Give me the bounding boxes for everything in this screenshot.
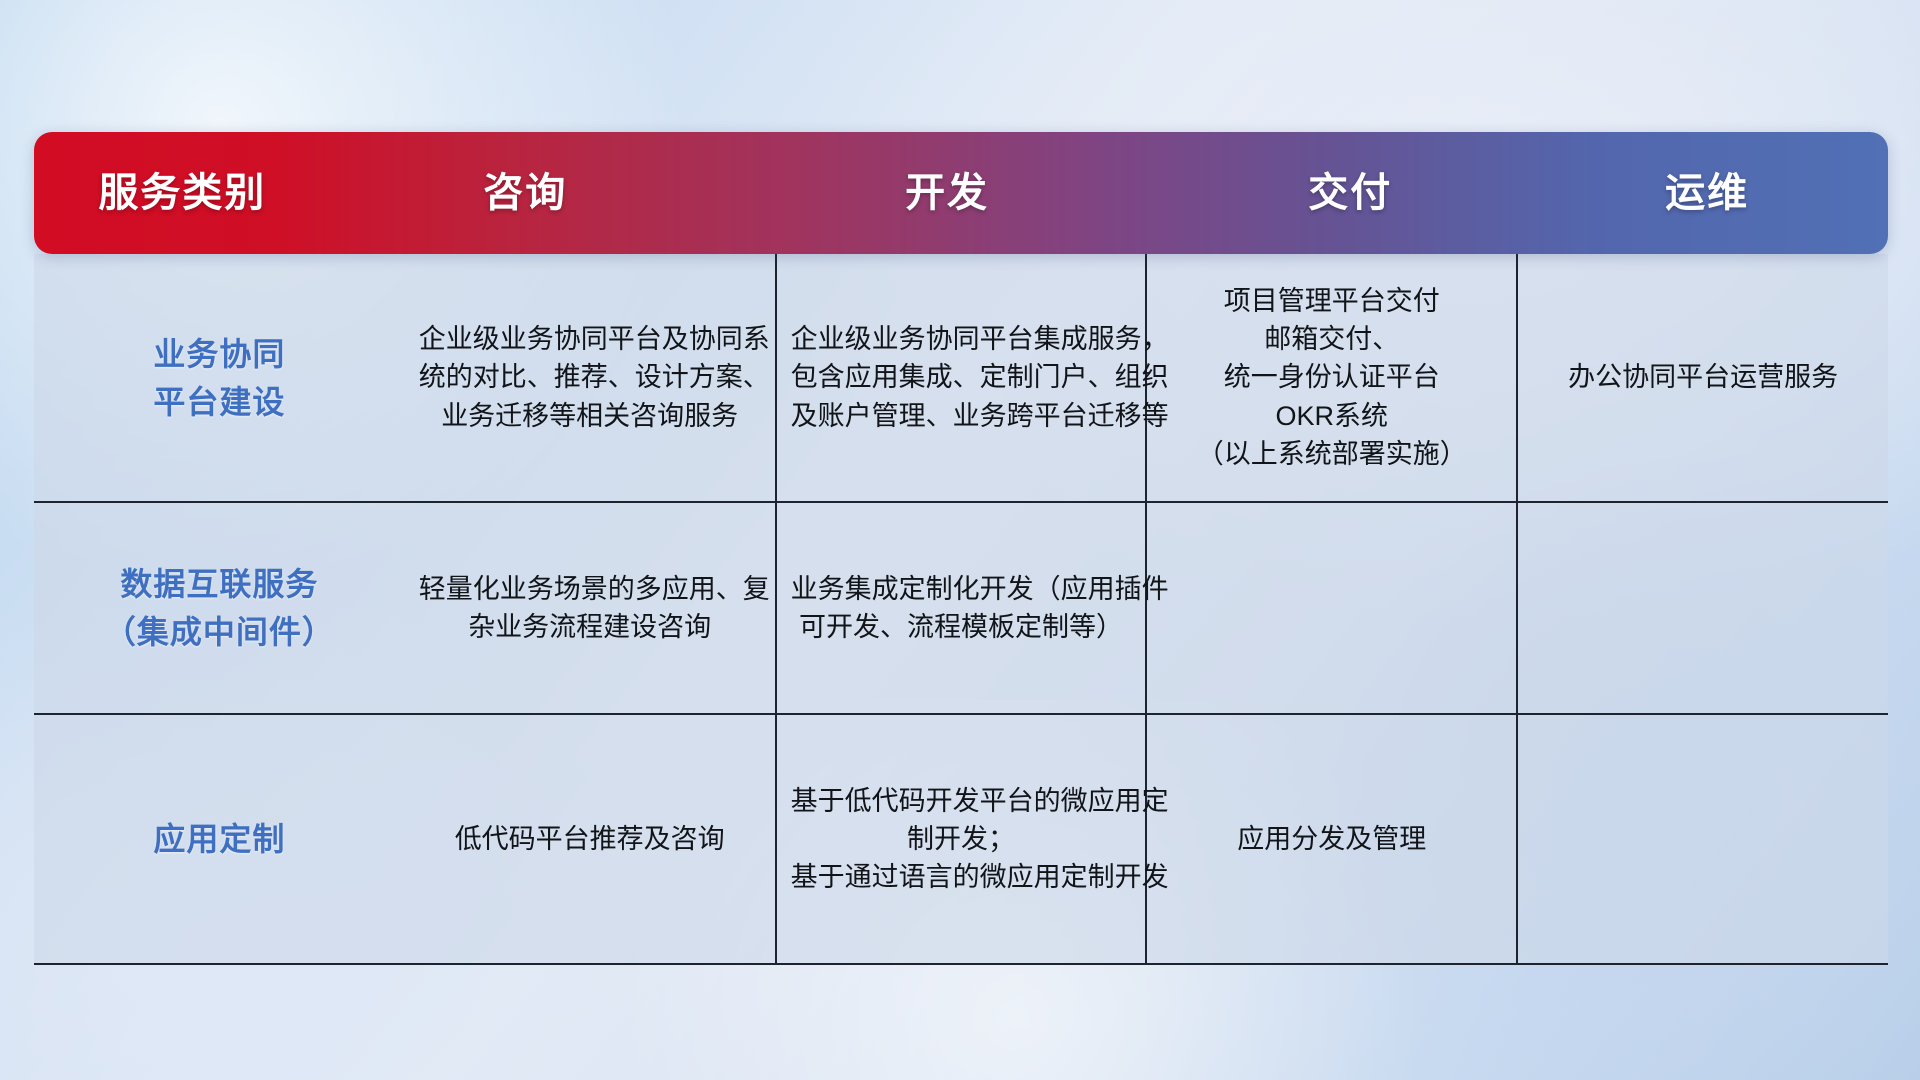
column-header-service-category: 服务类别 [34, 173, 331, 213]
column-header-operations: 运维 [1526, 173, 1888, 213]
cell-line: 轻量化业务场景的多应用、复 [419, 570, 761, 608]
cell-service-category: 业务协同平台建设 [34, 254, 405, 502]
table-header-row: 服务类别 咨询 开发 交付 运维 [34, 132, 1888, 254]
cell-development: 基于低代码开发平台的微应用定制开发；基于通过语言的微应用定制开发 [776, 714, 1147, 964]
service-matrix-table: 服务类别 咨询 开发 交付 运维 业务协同平台建设企业级业务协同平台及协同系统的… [34, 132, 1888, 965]
cell-line: 基于低代码开发平台的微应用定 [791, 782, 1132, 820]
cell-line: 业务集成定制化开发（应用插件 [791, 570, 1132, 608]
cell-delivery [1146, 502, 1517, 714]
table-header: 服务类别 咨询 开发 交付 运维 [34, 132, 1888, 254]
cell-line: 业务协同 [48, 330, 391, 378]
cell-operations [1517, 714, 1888, 964]
cell-development: 业务集成定制化开发（应用插件可开发、流程模板定制等） [776, 502, 1147, 714]
cell-line: 统的对比、推荐、设计方案、 [419, 358, 761, 396]
cell-line: 办公协同平台运营服务 [1532, 358, 1874, 396]
gradient-header-bar: 服务类别 咨询 开发 交付 运维 [34, 132, 1888, 254]
cell-line: 制开发； [791, 820, 1132, 858]
column-header-development: 开发 [720, 173, 1174, 213]
cell-development: 企业级业务协同平台集成服务，包含应用集成、定制门户、组织及账户管理、业务跨平台迁… [776, 254, 1147, 502]
cell-line: 数据互联服务 [48, 560, 391, 608]
cell-service-category: 数据互联服务（集成中间件） [34, 502, 405, 714]
cell-line: 企业级业务协同平台及协同系 [419, 320, 761, 358]
cell-line: （集成中间件） [48, 608, 391, 656]
cell-line: 业务迁移等相关咨询服务 [419, 397, 761, 435]
cell-consulting: 企业级业务协同平台及协同系统的对比、推荐、设计方案、业务迁移等相关咨询服务 [405, 254, 776, 502]
cell-line: 统一身份认证平台 [1161, 358, 1502, 396]
cell-service-category: 应用定制 [34, 714, 405, 964]
table-header-bar-cell: 服务类别 咨询 开发 交付 运维 [34, 132, 1888, 254]
cell-line: 杂业务流程建设咨询 [419, 608, 761, 646]
cell-line: OKR系统 [1161, 397, 1502, 435]
cell-delivery: 项目管理平台交付邮箱交付、统一身份认证平台OKR系统（以上系统部署实施） [1146, 254, 1517, 502]
cell-line: 应用定制 [48, 815, 391, 863]
cell-line: （以上系统部署实施） [1161, 435, 1502, 473]
cell-line: 项目管理平台交付 [1161, 282, 1502, 320]
cell-line: 及账户管理、业务跨平台迁移等 [791, 397, 1132, 435]
cell-line: 应用分发及管理 [1161, 820, 1502, 858]
cell-line: 可开发、流程模板定制等） [791, 608, 1132, 646]
service-matrix-table-container: 服务类别 咨询 开发 交付 运维 业务协同平台建设企业级业务协同平台及协同系统的… [34, 132, 1888, 965]
table-row: 应用定制低代码平台推荐及咨询基于低代码开发平台的微应用定制开发；基于通过语言的微… [34, 714, 1888, 964]
table-row: 数据互联服务（集成中间件）轻量化业务场景的多应用、复杂业务流程建设咨询业务集成定… [34, 502, 1888, 714]
cell-line: 包含应用集成、定制门户、组织 [791, 358, 1132, 396]
cell-line: 基于通过语言的微应用定制开发 [791, 858, 1132, 896]
column-header-delivery: 交付 [1174, 173, 1526, 213]
table-row: 业务协同平台建设企业级业务协同平台及协同系统的对比、推荐、设计方案、业务迁移等相… [34, 254, 1888, 502]
cell-line: 邮箱交付、 [1161, 320, 1502, 358]
cell-consulting: 低代码平台推荐及咨询 [405, 714, 776, 964]
cell-line: 低代码平台推荐及咨询 [419, 820, 761, 858]
cell-operations [1517, 502, 1888, 714]
header-labels: 服务类别 咨询 开发 交付 运维 [34, 132, 1888, 254]
cell-delivery: 应用分发及管理 [1146, 714, 1517, 964]
column-header-consulting: 咨询 [331, 173, 720, 213]
cell-consulting: 轻量化业务场景的多应用、复杂业务流程建设咨询 [405, 502, 776, 714]
cell-line: 平台建设 [48, 378, 391, 426]
cell-line: 企业级业务协同平台集成服务， [791, 320, 1132, 358]
table-body: 业务协同平台建设企业级业务协同平台及协同系统的对比、推荐、设计方案、业务迁移等相… [34, 254, 1888, 964]
cell-operations: 办公协同平台运营服务 [1517, 254, 1888, 502]
